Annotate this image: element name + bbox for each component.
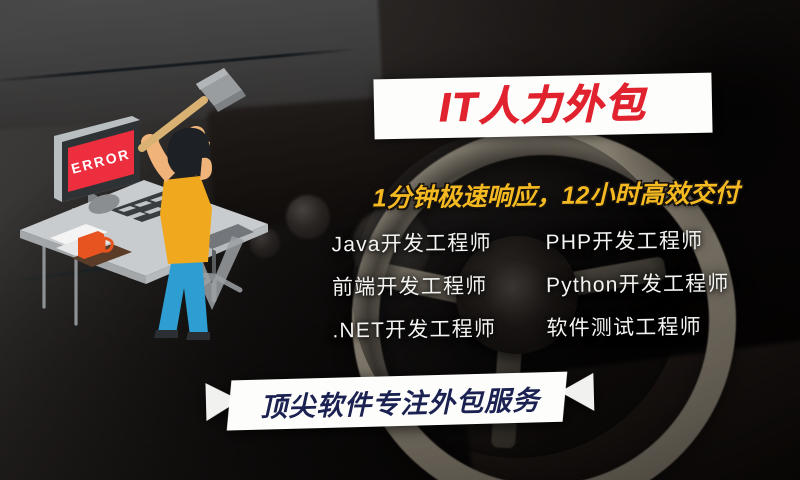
job-role-grid: Java开发工程师 PHP开发工程师 前端开发工程师 Python开发工程师 .…	[331, 222, 788, 351]
hammer-desk-illustration: ERROR	[16, 62, 284, 352]
job-item: .NET开发工程师	[332, 310, 538, 350]
job-item: 软件测试工程师	[538, 308, 788, 349]
slogan-ribbon	[205, 369, 594, 433]
title-banner: IT人力外包	[373, 73, 712, 140]
job-item: Java开发工程师	[331, 224, 537, 264]
job-item: Python开发工程师	[538, 265, 788, 306]
subtitle-line: 1分钟极速响应，12小时高效交付	[330, 175, 782, 213]
poster-canvas: ERROR	[0, 0, 800, 480]
job-item: PHP开发工程师	[537, 222, 787, 263]
page-title: IT人力外包	[439, 84, 647, 128]
job-item: 前端开发工程师	[332, 267, 538, 307]
subtitle-text: 1分钟极速响应，12小时高效交付	[372, 173, 739, 214]
ribbon-body	[225, 372, 568, 431]
